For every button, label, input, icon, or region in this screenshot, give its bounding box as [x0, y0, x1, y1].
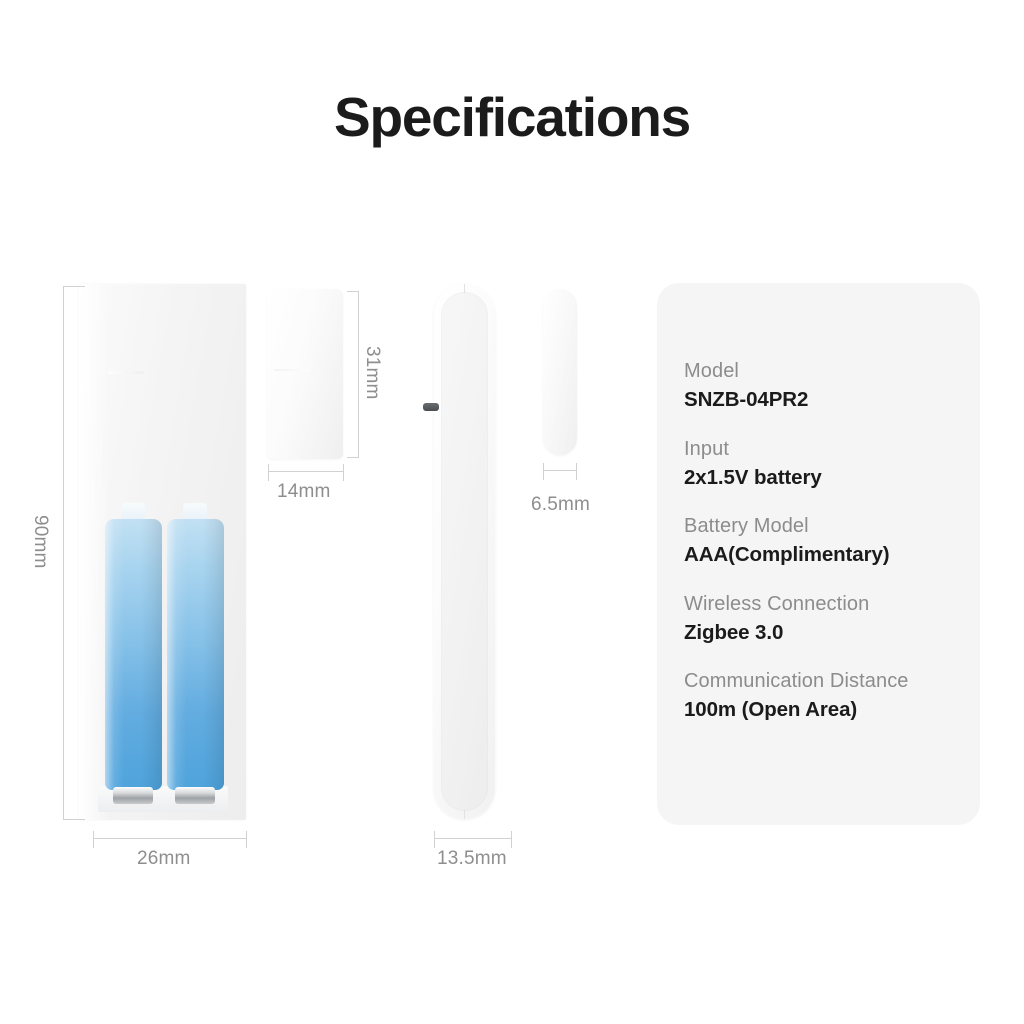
page-title: Specifications	[0, 85, 1024, 149]
aaa-battery	[167, 519, 224, 790]
spec-value: Zigbee 3.0	[684, 618, 974, 647]
dimension-cap-left-13-5	[434, 831, 435, 848]
magnet-block-view	[267, 289, 343, 459]
spec-label: Battery Model	[684, 512, 974, 540]
sensor-pairing-button	[423, 403, 439, 411]
aaa-battery	[105, 519, 162, 790]
dimension-label-width-13-5: 13.5mm	[437, 848, 507, 870]
dimension-cap-top-90	[63, 286, 85, 287]
dimension-cap-left-14	[268, 464, 269, 481]
spec-value: 2x1.5V battery	[684, 463, 974, 492]
dimension-line-width-6-5	[543, 470, 577, 471]
dimension-cap-bottom-31	[347, 457, 359, 458]
dimension-cap-top-31	[347, 291, 359, 292]
spec-row-wireless-connection: Wireless Connection Zigbee 3.0	[684, 590, 974, 648]
dimension-cap-bottom-90	[63, 819, 85, 820]
spec-label: Input	[684, 435, 974, 463]
dimension-cap-right-14	[343, 464, 344, 481]
dimension-line-width-13-5	[434, 838, 512, 839]
dimension-cap-right-13-5	[511, 831, 512, 848]
dimension-cap-left-6-5	[543, 463, 544, 480]
spec-value: SNZB-04PR2	[684, 385, 974, 414]
dimension-line-height-31	[358, 291, 359, 457]
dimension-line-width-14	[268, 471, 344, 472]
dimension-label-width-6-5: 6.5mm	[531, 494, 590, 516]
spec-row-model: Model SNZB-04PR2	[684, 357, 974, 415]
side-profile-view	[543, 289, 577, 455]
dimension-cap-right-6-5	[576, 463, 577, 480]
dimension-label-width-26: 26mm	[137, 848, 191, 870]
sensor-seam-bottom	[464, 810, 465, 819]
spec-row-battery-model: Battery Model AAA(Complimentary)	[684, 512, 974, 570]
specifications-list: Model SNZB-04PR2 Input 2x1.5V battery Ba…	[684, 357, 974, 725]
dimension-line-height-90	[63, 286, 64, 819]
battery-spring-terminal	[175, 787, 215, 804]
magnet-block-seam-mark	[274, 369, 309, 371]
spec-row-input: Input 2x1.5V battery	[684, 435, 974, 493]
spec-label: Communication Distance	[684, 667, 974, 695]
dimension-label-height-90: 90mm	[29, 515, 51, 569]
sensor-inner-panel	[441, 292, 488, 811]
battery-spring-terminal	[113, 787, 153, 804]
dimension-cap-right-26	[246, 831, 247, 848]
spec-value: AAA(Complimentary)	[684, 540, 974, 569]
dimension-label-width-14: 14mm	[277, 481, 331, 503]
dimension-line-width-26	[93, 838, 247, 839]
compartment-slot-mark	[108, 371, 144, 374]
spec-label: Wireless Connection	[684, 590, 974, 618]
spec-label: Model	[684, 357, 974, 385]
sensor-seam-top	[464, 284, 465, 293]
spec-row-communication-distance: Communication Distance 100m (Open Area)	[684, 667, 974, 725]
dimension-cap-left-26	[93, 831, 94, 848]
spec-value: 100m (Open Area)	[684, 695, 974, 724]
dimension-label-height-31: 31mm	[361, 346, 383, 400]
